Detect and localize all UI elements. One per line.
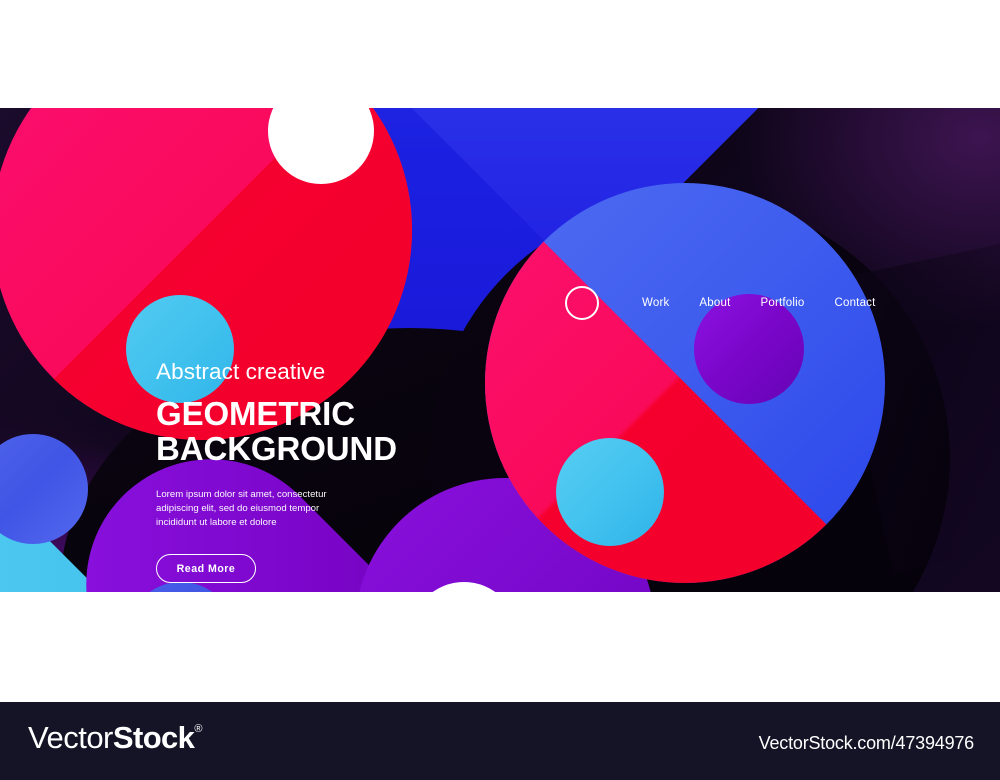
hero-subtitle: Lorem ipsum dolor sit amet, consectetur …: [156, 488, 496, 530]
registered-trademark-icon: ®: [194, 724, 202, 735]
nav-item-contact[interactable]: Contact: [819, 297, 890, 309]
hero-copy: Abstract creative GEOMETRIC BACKGROUND L…: [156, 360, 496, 583]
nav-item-about[interactable]: About: [684, 297, 745, 309]
hero-eyebrow: Abstract creative: [156, 360, 496, 385]
hero-title: GEOMETRIC BACKGROUND: [156, 396, 496, 467]
ring-logo-icon[interactable]: [565, 286, 599, 320]
vectorstock-url: VectorStock.com/47394976: [759, 733, 974, 754]
hero-artwork: Work About Portfolio Contact Abstract cr…: [0, 108, 1000, 592]
nav-links: Work About Portfolio Contact: [627, 297, 891, 309]
vectorstock-logo-part2: Stock: [113, 722, 194, 753]
cyan-accent-circle-2: [556, 438, 664, 546]
read-more-button[interactable]: Read More: [156, 554, 256, 583]
nav-item-work[interactable]: Work: [627, 297, 684, 309]
vectorstock-logo-part1: Vector: [28, 722, 113, 753]
screenshot-root: Work About Portfolio Contact Abstract cr…: [0, 0, 1000, 780]
nav-item-portfolio[interactable]: Portfolio: [745, 297, 819, 309]
vectorstock-logo: Vector Stock ®: [28, 722, 202, 753]
site-navigation: Work About Portfolio Contact: [565, 286, 891, 320]
